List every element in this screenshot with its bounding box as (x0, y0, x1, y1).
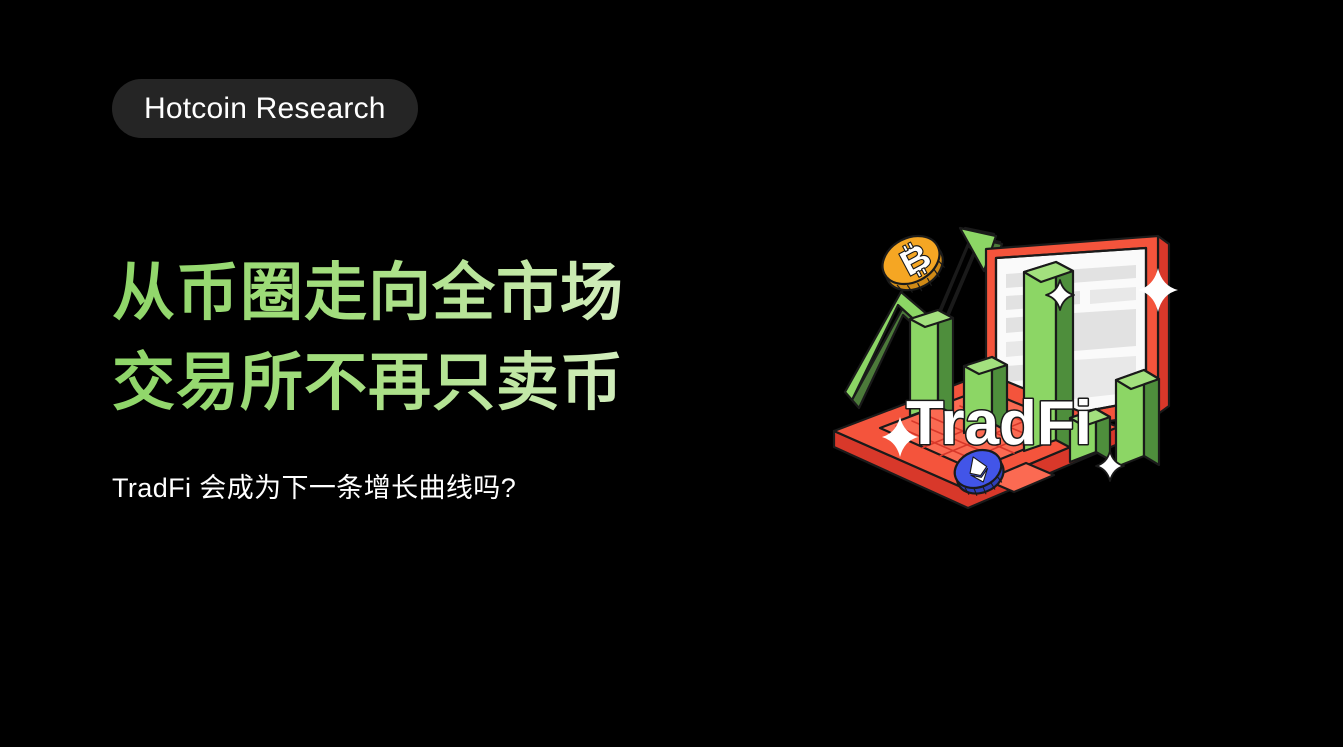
hero-illustration: TradFi (828, 222, 1228, 532)
subtitle: TradFi 会成为下一条增长曲线吗? (112, 470, 516, 506)
brand-badge-label: Hotcoin Research (144, 94, 386, 124)
headline-line-2: 交易所不再只卖币 (112, 338, 752, 428)
brand-badge: Hotcoin Research (112, 79, 418, 138)
headline: 从币圈走向全市场 交易所不再只卖币 (112, 248, 752, 428)
headline-line-1: 从币圈走向全市场 (112, 248, 752, 338)
illustration-svg: TradFi (828, 222, 1228, 532)
poster-canvas: Hotcoin Research 从币圈走向全市场 交易所不再只卖币 TradF… (0, 0, 1343, 747)
tradfi-wordmark: TradFi (906, 389, 1092, 458)
bitcoin-coin-icon (874, 226, 952, 302)
